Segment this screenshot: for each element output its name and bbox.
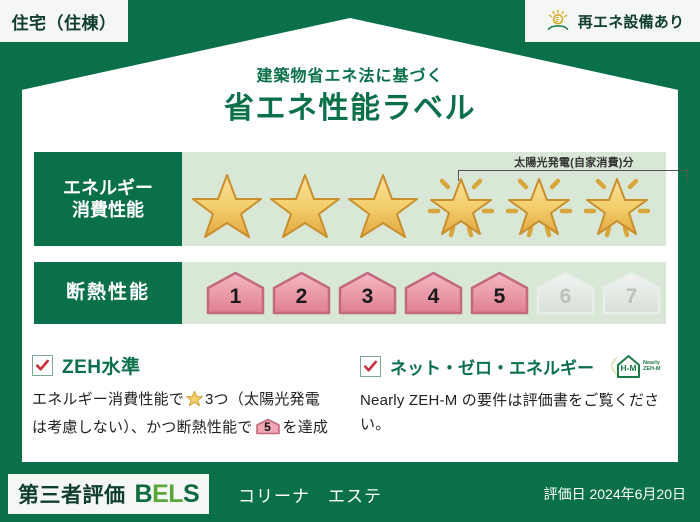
energy-label-line1: エネルギー (63, 177, 153, 200)
insulation-level-badge-inline: 5 (255, 418, 281, 435)
bels-logo-b: B (135, 480, 153, 508)
criteria-nze-header: ネット・ゼロ・エネルギー H-M Nearly ZEH-M (360, 352, 668, 380)
insulation-level-number: 5 (494, 286, 506, 316)
star-icon (344, 167, 422, 241)
criteria-zeh-header: ZEH水準 (32, 352, 332, 379)
star-icon-solar (500, 167, 578, 241)
zeh-m-inner-text: H-M (620, 363, 636, 373)
building-name: コリーナ エステ (238, 474, 382, 514)
bels-logo-s: S (183, 480, 199, 508)
criteria-zeh-body: エネルギー消費性能で3つ（太陽光発電は考慮しない）、かつ断熱性能で5を達成 (32, 388, 332, 441)
insulation-level-4: 4 (402, 270, 465, 316)
insulation-performance-row: 断熱性能 1 2 3 (34, 262, 666, 324)
energy-label-line2: 消費性能 (72, 199, 144, 222)
insulation-level-number: 4 (428, 286, 440, 316)
zeh-m-caption-line1: Nearly (643, 360, 660, 366)
insulation-level-3: 3 (336, 270, 399, 316)
third-party-eval-label: 第三者評価 (18, 479, 126, 509)
insulation-levels-panel: 1 2 3 4 5 6 (182, 262, 666, 324)
insulation-level-2: 2 (270, 270, 333, 316)
insulation-level-number: 2 (296, 286, 308, 316)
criteria-zeh-text-1: エネルギー消費性能で (32, 391, 184, 408)
renewable-energy-text: 再エネ設備あり (578, 11, 684, 32)
energy-performance-label: 住宅（住棟） 再エネ設備あり 建築物省エネ法に基づく 省エネ性能ラベル (0, 0, 700, 522)
star-rating (188, 167, 656, 241)
bels-logo: BELS (135, 480, 200, 509)
criteria-zeh-title: ZEH水準 (62, 352, 141, 379)
zeh-m-logo: H-M Nearly ZEH-M (609, 352, 660, 380)
insulation-level-number: 3 (362, 286, 374, 316)
criteria-net-zero-energy: ネット・ゼロ・エネルギー H-M Nearly ZEH-M Nearly ZEH… (360, 352, 668, 438)
page-title: 省エネ性能ラベル (0, 83, 700, 127)
star-icon (266, 167, 344, 241)
insulation-label-text: 断熱性能 (66, 281, 150, 305)
zeh-m-caption-line2: ZEH-M (643, 366, 660, 372)
evaluation-date-value: 2024年6月20日 (589, 484, 686, 504)
criteria-zeh-standard: ZEH水準 エネルギー消費性能で3つ（太陽光発電は考慮しない）、かつ断熱性能で5… (32, 352, 332, 441)
star-icon (188, 167, 266, 241)
sun-icon (545, 8, 571, 34)
star-icon-solar (422, 167, 500, 241)
insulation-level-1: 1 (204, 270, 267, 316)
insulation-level-badge-number: 5 (255, 418, 281, 435)
criteria-nze-title: ネット・ゼロ・エネルギー (390, 354, 594, 379)
star-icon-inline (185, 390, 204, 416)
insulation-level-7: 7 (600, 270, 663, 316)
zeh-m-house-icon: H-M (609, 352, 641, 380)
insulation-level-6: 6 (534, 270, 597, 316)
bels-certification-plate: 第三者評価 BELS (8, 474, 209, 514)
insulation-level-number: 7 (626, 286, 638, 316)
criteria-zeh-text-3: を達成 (283, 419, 329, 436)
energy-stars-panel: 太陽光発電(自家消費)分 (182, 152, 666, 246)
bels-logo-el: EL (152, 480, 183, 508)
evaluation-date-label: 評価日 (544, 484, 586, 504)
energy-performance-label-box: エネルギー 消費性能 (34, 152, 182, 246)
insulation-label-box: 断熱性能 (34, 262, 182, 324)
checkbox-checked-icon (32, 355, 53, 376)
zeh-m-logo-caption: Nearly ZEH-M (643, 360, 660, 373)
insulation-level-number: 1 (230, 286, 242, 316)
insulation-level-number: 6 (560, 286, 572, 316)
building-type-text: 住宅（住棟） (12, 9, 117, 34)
star-icon-solar (578, 167, 656, 241)
criteria-nze-body: Nearly ZEH-M の要件は評価書をご覧ください。 (360, 389, 668, 438)
building-type-tag: 住宅（住棟） (0, 0, 128, 42)
evaluation-date: 評価日 2024年6月20日 (544, 474, 686, 514)
footer-bar: 第三者評価 BELS コリーナ エステ 評価日 2024年6月20日 (0, 466, 700, 522)
checkbox-checked-icon (360, 356, 381, 377)
renewable-energy-badge: 再エネ設備あり (525, 0, 700, 42)
energy-performance-row: エネルギー 消費性能 太陽光発電(自家消費)分 (34, 152, 666, 246)
insulation-level-5: 5 (468, 270, 531, 316)
